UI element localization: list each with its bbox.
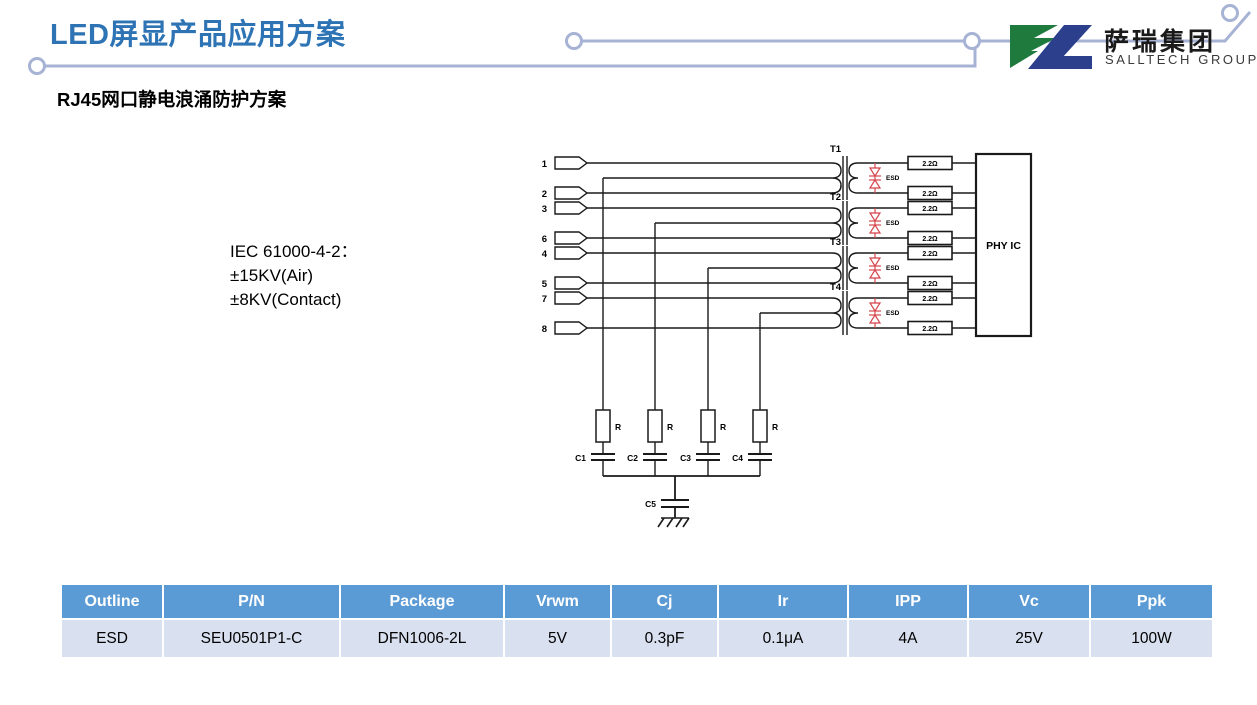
column-header-vrwm: Vrwm [504,585,611,619]
pin-label-7: 7 [542,294,547,305]
pin-label-8: 8 [542,324,547,335]
series-resistors [908,157,977,335]
phy-ic-label: PHY IC [986,240,1021,252]
table-header-row: Outline P/N Package Vrwm Cj Ir IPP Vc Pp… [62,585,1212,619]
resistor-value-7: 2.2Ω [922,296,938,303]
capacitor-label-c3: C3 [680,453,691,463]
pin-label-4: 4 [542,249,548,260]
capacitor-label-c1: C1 [575,453,586,463]
column-header-ppk: Ppk [1090,585,1212,619]
transformer-label-t2: T2 [830,192,841,203]
esd-diode-4 [869,298,881,328]
company-logo: 萨瑞集团 SALLTECH GROUP [1008,22,1248,78]
iec-air-discharge-line: ±15KV(Air) [230,264,358,288]
pin-number-labels: 1 2 3 6 4 5 7 8 [542,159,548,335]
resistor-value-1: 2.2Ω [922,161,938,168]
cell-ipp: 4A [848,619,968,657]
resistor-value-3: 2.2Ω [922,206,938,213]
column-header-pn: P/N [163,585,340,619]
esd-labels: ESD ESD ESD ESD [886,175,900,317]
rj45-esd-protection-schematic: 1 2 3 6 4 5 7 8 T1 T2 T3 T4 ESD ESD ESD … [525,138,1035,538]
resistor-value-2: 2.2Ω [922,191,938,198]
pin-label-6: 6 [542,234,547,245]
iec-contact-discharge-line: ±8KV(Contact) [230,288,358,312]
resistor-value-4: 2.2Ω [922,236,938,243]
esd-label-3: ESD [886,265,900,272]
capacitor-label-c4: C4 [732,453,743,463]
transformer-label-t1: T1 [830,144,842,155]
section-subtitle: RJ45网口静电浪涌防护方案 [57,86,286,112]
cell-ir: 0.1μA [718,619,848,657]
cell-pn: SEU0501P1-C [163,619,340,657]
cell-vrwm: 5V [504,619,611,657]
esd-label-2: ESD [886,220,900,227]
cell-package: DFN1006-2L [340,619,504,657]
bias-resistors [596,410,767,454]
column-header-ipp: IPP [848,585,968,619]
column-header-outline: Outline [62,585,163,619]
bypass-capacitor-c5 [661,476,689,518]
cell-cj: 0.3pF [611,619,718,657]
slide-header: LED屏显产品应用方案 萨瑞集团 SALLTECH GROUP [0,0,1257,88]
product-spec-table: Outline P/N Package Vrwm Cj Ir IPP Vc Pp… [62,585,1212,657]
iec-standard-line: IEC 61000-4-2： [230,240,358,264]
pin-label-3: 3 [542,204,547,215]
capacitor-label-c5: C5 [645,499,656,509]
salltech-logo-mark [1008,24,1094,70]
esd-label-1: ESD [886,175,900,182]
column-header-package: Package [340,585,504,619]
transformer-label-t4: T4 [830,282,842,293]
rj45-pin-connectors [555,157,587,334]
column-header-ir: Ir [718,585,848,619]
transformer-label-t3: T3 [830,237,841,248]
column-header-vc: Vc [968,585,1090,619]
resistor-value-8: 2.2Ω [922,326,938,333]
iec-spec-note: IEC 61000-4-2： ±15KV(Air) ±8KV(Contact) [230,240,358,312]
cell-vc: 25V [968,619,1090,657]
bias-resistor-label-2: R [667,422,673,432]
esd-diodes [869,163,881,328]
cell-ppk: 100W [1090,619,1212,657]
ground-symbol [658,518,689,527]
signal-traces [587,163,832,328]
resistor-value-5: 2.2Ω [922,251,938,258]
page-title: LED屏显产品应用方案 [50,11,346,53]
pin-label-1: 1 [542,159,548,170]
pin-label-2: 2 [542,189,547,200]
bias-resistor-label-1: R [615,422,621,432]
transformers [832,156,945,335]
column-header-cj: Cj [611,585,718,619]
center-tap-traces [603,178,832,420]
pin-label-5: 5 [542,279,548,290]
table-row: ESD SEU0501P1-C DFN1006-2L 5V 0.3pF 0.1μ… [62,619,1212,657]
capacitor-label-c2: C2 [627,453,638,463]
esd-diode-1 [869,163,881,193]
cell-outline: ESD [62,619,163,657]
esd-label-4: ESD [886,310,900,317]
resistor-value-6: 2.2Ω [922,281,938,288]
logo-english-name: SALLTECH GROUP [1105,52,1257,67]
bias-resistor-label-4: R [772,422,778,432]
bias-resistor-label-3: R [720,422,726,432]
esd-diode-2 [869,208,881,238]
esd-diode-3 [869,253,881,283]
